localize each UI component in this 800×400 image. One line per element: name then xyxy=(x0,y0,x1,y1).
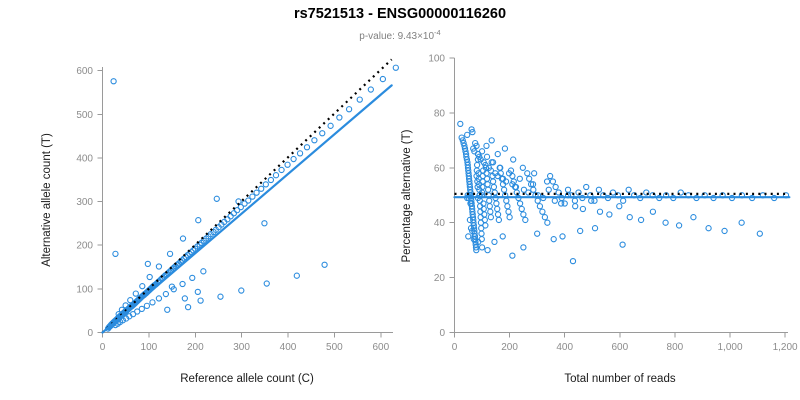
left-y-tick-label: 100 xyxy=(76,284,93,295)
left-x-tick-label: 400 xyxy=(280,342,297,353)
figure-title: rs7521513 - ENSG00000116260 xyxy=(294,6,506,22)
right-y-axis-title: Percentage alternative (T) xyxy=(401,129,413,262)
left-y-axis-title: Alternative allele count (T) xyxy=(41,133,53,267)
right-x-axis-title: Total number of reads xyxy=(564,373,675,385)
svg-text:p-value: 9.43×10-4: p-value: 9.43×10-4 xyxy=(359,28,440,42)
figure-background xyxy=(0,0,800,400)
right-y-tick-label: 0 xyxy=(439,328,445,339)
left-y-tick-label: 600 xyxy=(76,66,93,77)
figure-subtitle: p-value: 9.43×10-4 xyxy=(359,28,440,42)
left-x-tick-label: 0 xyxy=(100,342,106,353)
right-x-tick-label: 400 xyxy=(556,342,573,353)
right-y-tick-label: 60 xyxy=(434,163,446,174)
right-x-tick-label: 200 xyxy=(501,342,518,353)
left-x-tick-label: 300 xyxy=(233,342,250,353)
right-x-tick-label: 600 xyxy=(611,342,628,353)
left-y-tick-label: 200 xyxy=(76,241,93,252)
left-x-tick-label: 100 xyxy=(141,342,158,353)
left-x-axis-title: Reference allele count (C) xyxy=(180,373,314,385)
subtitle-exponent: -4 xyxy=(434,28,441,37)
allelic-imbalance-figure: rs7521513 - ENSG00000116260 p-value: 9.4… xyxy=(0,0,800,400)
right-y-tick-label: 40 xyxy=(434,218,446,229)
left-y-tick-label: 300 xyxy=(76,197,93,208)
left-y-tick-label: 0 xyxy=(87,328,93,339)
left-x-tick-label: 200 xyxy=(187,342,204,353)
right-x-tick-label: 1,200 xyxy=(773,342,798,353)
right-y-tick-label: 100 xyxy=(428,54,445,65)
right-x-tick-label: 1,000 xyxy=(717,342,742,353)
left-y-tick-label: 400 xyxy=(76,154,93,165)
left-y-tick-label: 500 xyxy=(76,110,93,121)
right-y-tick-label: 20 xyxy=(434,273,446,284)
left-x-tick-label: 500 xyxy=(326,342,343,353)
right-y-tick-label: 80 xyxy=(434,108,446,119)
subtitle-prefix: p-value: 9.43×10 xyxy=(359,31,434,42)
right-x-tick-label: 800 xyxy=(667,342,684,353)
left-x-tick-label: 600 xyxy=(372,342,389,353)
right-x-tick-label: 0 xyxy=(452,342,458,353)
